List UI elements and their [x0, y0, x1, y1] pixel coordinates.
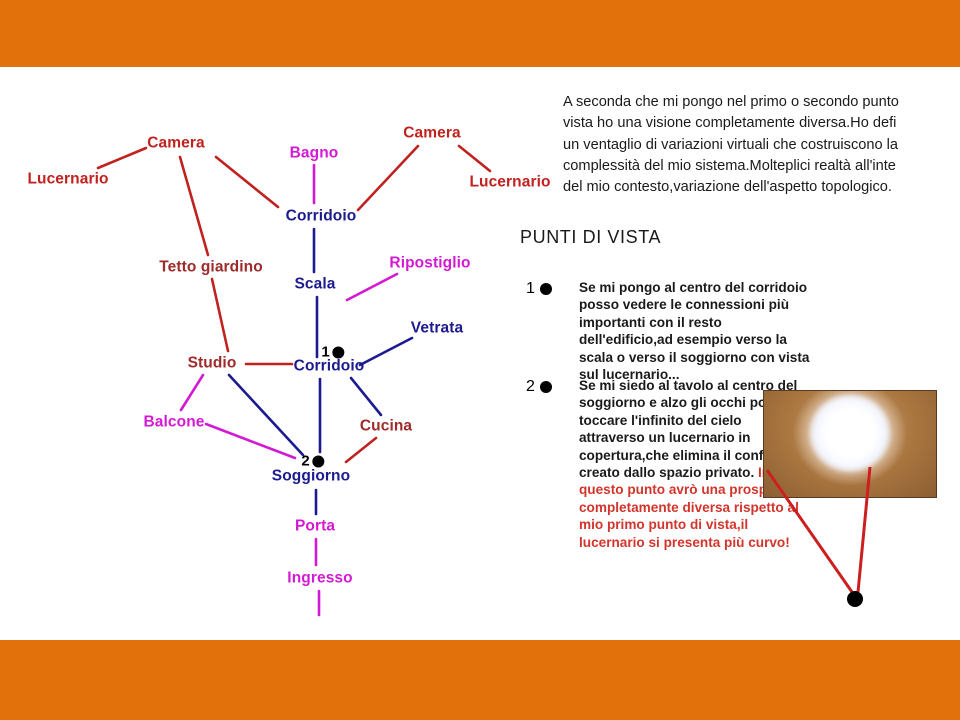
graph-edge-balcone-soggiorno [206, 424, 295, 458]
sight-line-left [767, 470, 852, 592]
graph-node-bagno[interactable]: Bagno [290, 145, 339, 161]
graph-node-ripostiglio[interactable]: Ripostiglio [389, 255, 470, 271]
graph-node-scala[interactable]: Scala [294, 276, 335, 292]
graph-viewpoint-1-number: 1 [321, 345, 329, 360]
graph-edge-cucina-soggiorno [346, 438, 376, 462]
viewpoint-2-number: 2 [526, 379, 535, 395]
graph-viewpoint-2[interactable]: 2 [301, 454, 324, 469]
graph-node-balcone[interactable]: Balcone [144, 414, 205, 430]
graph-viewpoint-1[interactable]: 1 [321, 345, 344, 360]
punti-di-vista-heading: PUNTI DI VISTA [520, 227, 661, 248]
bottom-orange-band [0, 640, 960, 720]
graph-node-camera-dx[interactable]: Camera [403, 125, 460, 141]
intro-line-5: del mio contesto,variazione dell'aspetto… [563, 177, 960, 198]
graph-edges-layer [0, 67, 520, 640]
graph-node-cucina[interactable]: Cucina [360, 418, 412, 434]
slide: LucernarioCameraBagnoCameraLucernarioCor… [0, 0, 960, 720]
viewpoint-1-text: Se mi pongo al centro del corridoio poss… [579, 279, 811, 383]
intro-line-1: A seconda che mi pongo nel primo o secon… [563, 92, 960, 113]
viewpoint-1-number: 1 [526, 281, 535, 297]
intro-line-3: un ventaglio di variazioni virtuali che … [563, 135, 960, 156]
viewpoint-2-dot-icon [540, 381, 552, 393]
sight-lines-diagram [750, 387, 960, 612]
viewpoint-2-marker: 2 [526, 379, 552, 395]
graph-edge-scala-ripostiglio [347, 274, 397, 300]
graph-node-tetto-giardino[interactable]: Tetto giardino [159, 259, 263, 275]
graph-node-soggiorno[interactable]: Soggiorno [272, 468, 350, 484]
graph-edge-vetrata-corridoio-1 [360, 338, 412, 365]
observer-dot-icon [847, 591, 863, 607]
intro-line-4: complessità del mio sistema.Molteplici r… [563, 156, 960, 177]
sight-line-right [858, 467, 870, 592]
graph-node-ingresso[interactable]: Ingresso [287, 570, 352, 586]
graph-edge-camera-dx-lucernario-dx [459, 146, 490, 171]
graph-viewpoint-2-dot-icon [313, 455, 325, 467]
graph-node-camera-sx[interactable]: Camera [147, 135, 204, 151]
graph-node-studio[interactable]: Studio [188, 355, 237, 371]
viewpoint-1-dot-icon [540, 283, 552, 295]
graph-viewpoint-1-dot-icon [333, 346, 345, 358]
graph-node-porta[interactable]: Porta [295, 518, 335, 534]
graph-edge-camera-dx-corridoio-top [358, 146, 418, 210]
graph-node-corridoio-1[interactable]: Corridoio [294, 358, 365, 374]
topology-graph: LucernarioCameraBagnoCameraLucernarioCor… [0, 67, 520, 640]
top-orange-band [0, 0, 960, 67]
graph-node-lucernario-sx[interactable]: Lucernario [27, 171, 108, 187]
graph-edge-camera-sx-corridoio-top [216, 157, 278, 207]
right-column: A seconda che mi pongo nel primo o secon… [520, 67, 960, 640]
graph-node-vetrata[interactable]: Vetrata [411, 320, 463, 336]
graph-node-corridoio-top[interactable]: Corridoio [286, 208, 357, 224]
viewpoint-1-marker: 1 [526, 281, 552, 297]
graph-viewpoint-2-number: 2 [301, 454, 309, 469]
intro-paragraph: A seconda che mi pongo nel primo o secon… [563, 92, 960, 198]
slide-content-area: LucernarioCameraBagnoCameraLucernarioCor… [0, 67, 960, 640]
intro-line-2: vista ho una visione completamente diver… [563, 113, 960, 134]
graph-edge-studio-balcone [181, 375, 203, 410]
graph-edge-studio-soggiorno [229, 375, 303, 455]
graph-edge-lucernario-sx-camera-sx [98, 148, 146, 168]
graph-edge-camera-sx-tetto-giardino [180, 157, 208, 255]
graph-edge-corridoio-1-cucina [351, 378, 381, 415]
graph-edge-tetto-giardino-studio [212, 279, 228, 351]
